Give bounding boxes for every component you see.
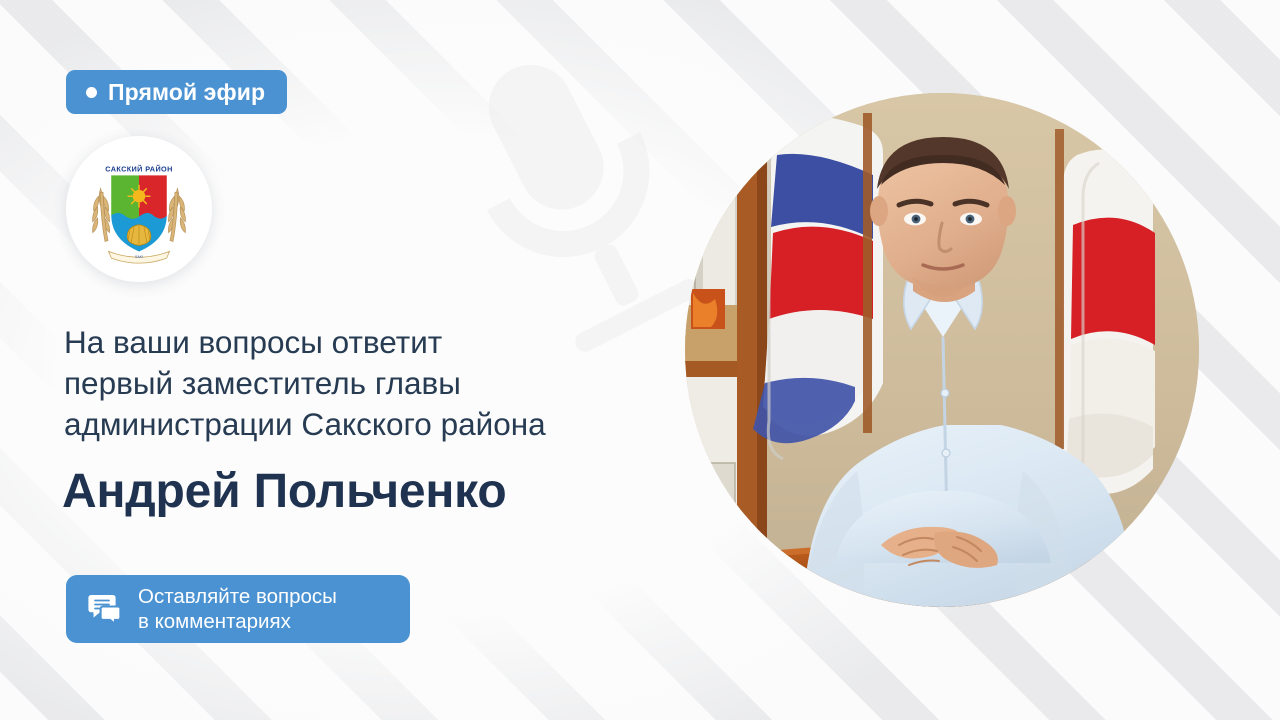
live-badge-label: Прямой эфир xyxy=(108,79,265,106)
portrait-photo xyxy=(685,93,1199,607)
district-emblem: САКСКИЙ РАЙОН SAKI xyxy=(66,136,212,282)
comments-cta-line-1: Оставляйте вопросы xyxy=(138,584,337,609)
svg-text:SAKI: SAKI xyxy=(135,255,143,259)
saki-district-coat-of-arms-icon: САКСКИЙ РАЙОН SAKI xyxy=(75,145,203,273)
comments-cta-line-2: в комментариях xyxy=(138,609,337,634)
comments-icon xyxy=(88,594,122,624)
headline-block: На ваши вопросы ответит первый заместите… xyxy=(64,322,694,445)
live-badge[interactable]: Прямой эфир xyxy=(66,70,287,114)
comments-cta-button[interactable]: Оставляйте вопросы в комментариях xyxy=(66,575,410,643)
live-dot-icon xyxy=(86,87,97,98)
emblem-caption: САКСКИЙ РАЙОН xyxy=(105,165,173,174)
person-name: Андрей Польченко xyxy=(62,463,506,521)
headline-line-3: администрации Сакского района xyxy=(64,404,694,445)
live-announcement-banner: Прямой эфир xyxy=(0,0,1280,720)
headline-line-1: На ваши вопросы ответит xyxy=(64,322,694,363)
comments-cta-label: Оставляйте вопросы в комментариях xyxy=(138,584,337,634)
microphone-watermark-icon xyxy=(418,30,718,360)
headline-line-2: первый заместитель главы xyxy=(64,363,694,404)
